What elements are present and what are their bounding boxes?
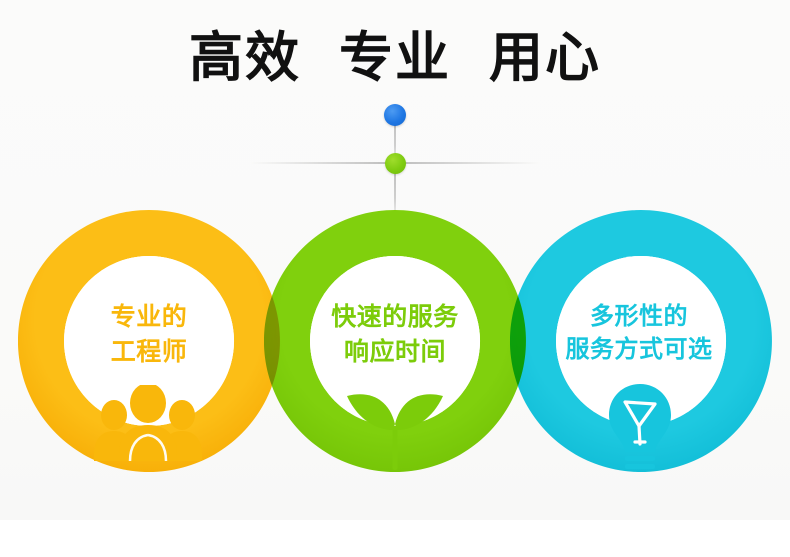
sprout-icon: [335, 382, 455, 470]
label-professional-engineers: 专业的 工程师: [34, 300, 264, 369]
label-fast-response: 快速的服务 响应时间: [280, 300, 510, 369]
label-line-1: 多形性的: [524, 300, 754, 333]
people-group-icon: [92, 385, 204, 461]
label-line-2: 响应时间: [280, 335, 510, 370]
label-flexible-service: 多形性的 服务方式可选: [524, 300, 754, 366]
label-line-2: 服务方式可选: [524, 333, 754, 366]
label-line-2: 工程师: [34, 335, 264, 370]
label-line-1: 快速的服务: [280, 300, 510, 335]
infographic-canvas: 高效专业用心: [0, 0, 790, 557]
lightbulb-icon: [605, 382, 675, 470]
label-line-1: 专业的: [34, 300, 264, 335]
